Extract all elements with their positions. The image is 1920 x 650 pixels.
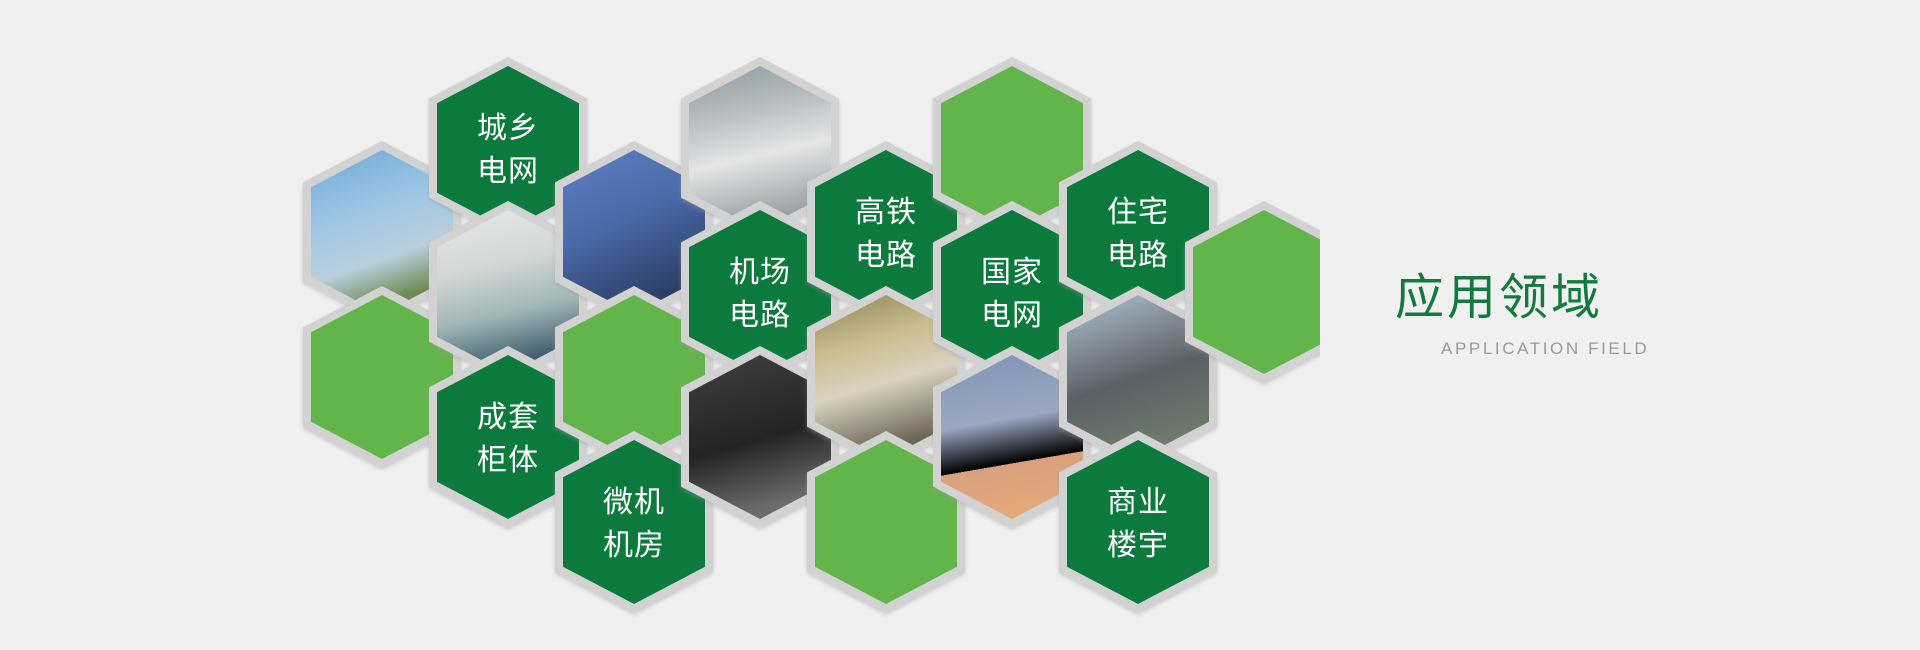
hex-label-text: 商业 xyxy=(1107,485,1169,520)
hex-label-text: 城乡 xyxy=(477,111,539,146)
hex-label-text: 微机 xyxy=(603,485,665,520)
hex-label-text: 电网 xyxy=(981,298,1043,333)
hex-label-text: 电网 xyxy=(477,154,539,189)
hex-label-text: 电路 xyxy=(1107,238,1169,273)
hex-label-text: 高铁 xyxy=(855,195,917,230)
hexagon-honeycomb: 城乡电网成套柜体机场电路微机机房高铁电路国家电网住宅电路商业楼宇 xyxy=(0,0,1320,650)
hex-label-text: 国家 xyxy=(981,255,1043,290)
hex-label-text: 楼宇 xyxy=(1107,528,1169,563)
application-field-banner: 城乡电网成套柜体机场电路微机机房高铁电路国家电网住宅电路商业楼宇 应用领域 AP… xyxy=(0,0,1920,650)
page-title: 应用领域 xyxy=(1395,272,1815,325)
page-subtitle: APPLICATION FIELD xyxy=(1441,339,1815,359)
heading-block: 应用领域 APPLICATION FIELD xyxy=(1395,272,1815,359)
hex-label-text: 成套 xyxy=(477,400,539,435)
hex-label-text: 住宅 xyxy=(1107,195,1169,230)
hex-label-text: 机房 xyxy=(603,528,665,563)
hex-label-text: 电路 xyxy=(729,298,791,333)
hex-label-text: 机场 xyxy=(729,255,791,290)
hex-label-text: 电路 xyxy=(855,238,917,273)
hex-label-text: 柜体 xyxy=(477,443,539,478)
